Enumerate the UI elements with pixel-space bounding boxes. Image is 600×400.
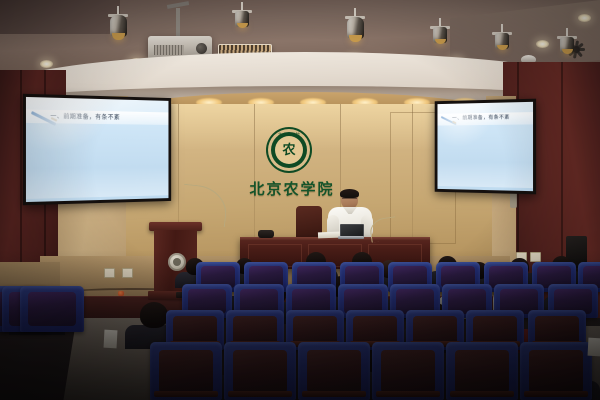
left-projection-screen: 一、前期准备，有条不紊: [23, 94, 171, 206]
downlight-icon: [40, 60, 53, 68]
university-emblem-icon: 北京农学院 农: [268, 129, 310, 171]
table-microphone-icon: [258, 230, 274, 238]
seat-back-panel: [307, 350, 362, 393]
auditorium-photo: 北京农学院 农 北京农学院 一、前期准备，有条不紊 一、前期准备，有条不紊: [0, 0, 600, 400]
seat-back-panel: [233, 350, 288, 393]
seat-paper-slip: [104, 330, 118, 349]
stage-spotlight-icon: [557, 28, 577, 64]
university-crest-icon: [168, 253, 186, 271]
stage-spotlight-icon: [492, 24, 512, 60]
seat-back-panel: [381, 350, 436, 393]
seat-back-panel: [455, 350, 510, 393]
venue-name: 北京农学院: [246, 178, 338, 199]
seat-writing-tablet[interactable]: [524, 391, 588, 397]
right-projection-screen: 一、前期准备，有条不紊: [435, 99, 536, 195]
seat-back-panel: [529, 350, 584, 393]
downlight-icon: [578, 14, 591, 22]
seat-back-panel: [28, 292, 77, 326]
stage-spotlight-icon: [345, 8, 365, 44]
seat-paper-slip: [588, 338, 600, 357]
papers: [318, 232, 340, 239]
seat-writing-tablet[interactable]: [154, 391, 218, 397]
stage-spotlight-icon: [430, 18, 450, 54]
seat-writing-tablet[interactable]: [450, 391, 514, 397]
seat-writing-tablet[interactable]: [228, 391, 292, 397]
wall-outlet-icon: [104, 268, 115, 278]
audience-member-head: [140, 302, 168, 328]
auditorium-seat[interactable]: [20, 286, 84, 332]
glasses-icon: [342, 198, 357, 202]
emblem-center-glyph: 农: [282, 144, 295, 157]
projector-mount: [176, 8, 180, 38]
projector-vent: [154, 45, 184, 55]
projector-lens: [196, 43, 207, 54]
seat-writing-tablet[interactable]: [302, 391, 366, 397]
ceiling-left-shadow: [0, 0, 120, 34]
stage-spotlight-icon: [232, 2, 252, 38]
seat-writing-tablet[interactable]: [376, 391, 440, 397]
seat-back-panel: [159, 350, 214, 393]
wall-outlet-icon: [530, 252, 541, 262]
laptop-icon: [338, 224, 364, 239]
wall-outlet-icon: [122, 268, 133, 278]
presenter-hair: [340, 189, 359, 198]
downlight-icon: [536, 40, 549, 48]
stage-spotlight-icon: [108, 6, 128, 42]
